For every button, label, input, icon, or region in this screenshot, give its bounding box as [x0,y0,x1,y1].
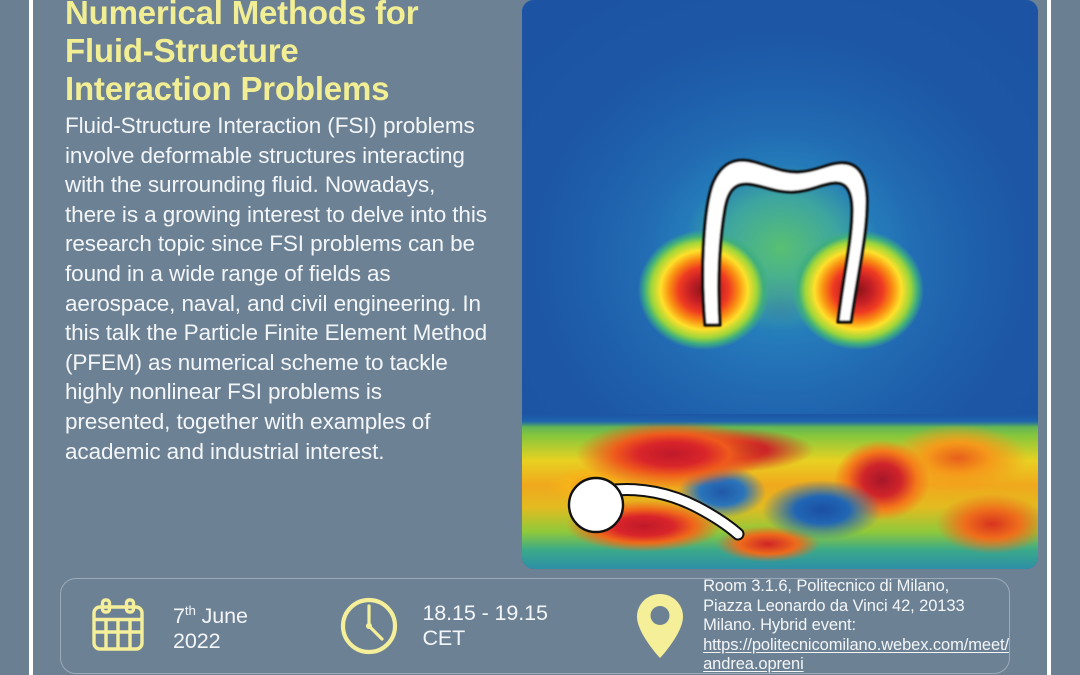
event-location-text: Room 3.1.6, Politecnico di Milano, Piazz… [703,577,1009,675]
calendar-icon [89,597,147,655]
event-date-day: 7 [173,604,185,628]
title-line-3: Interaction Problems [65,70,490,108]
map-pin-icon [635,590,685,662]
seminar-poster: Numerical Methods for Fluid-Structure In… [0,0,1080,675]
webex-link-line-1[interactable]: https://politecnicomilano.webex.com/meet… [703,636,1009,656]
event-details-card: 7th June 2022 18.15 - 19.15 CET [60,578,1010,674]
event-time-label: 18.15 - 19.15 CET [422,601,593,651]
event-date-label: 7th June 2022 [173,598,298,654]
location-line-3: Milano. Hybrid event: [703,616,856,634]
left-margin-band [0,0,29,675]
location-line-2: Piazza Leonardo da Vinci 42, 20133 [703,597,964,615]
event-date-ordinal: th [185,603,196,618]
poster-inner: Numerical Methods for Fluid-Structure In… [33,0,1047,675]
title-line-1: Numerical Methods for [65,0,490,32]
cylinder-and-flag-shape [522,414,1038,569]
webex-link-line-2[interactable]: andrea.opreni [703,655,1009,675]
fsi-simulation-figure [522,0,1038,569]
location-line-1: Room 3.1.6, Politecnico di Milano, [703,577,949,595]
title-line-2: Fluid-Structure [65,32,490,70]
text-column: Numerical Methods for Fluid-Structure In… [65,0,490,466]
event-date-item: 7th June 2022 [61,579,298,673]
page-title: Numerical Methods for Fluid-Structure In… [65,0,490,108]
right-vertical-rule [1047,0,1051,675]
event-time-item: 18.15 - 19.15 CET [298,579,593,673]
arch-membrane-shape [522,0,1038,414]
abstract-text: Fluid-Structure Interaction (FSI) proble… [65,111,490,466]
event-location-item: Room 3.1.6, Politecnico di Milano, Piazz… [593,579,1009,673]
right-margin-band [1051,0,1080,675]
clock-icon [338,595,400,657]
